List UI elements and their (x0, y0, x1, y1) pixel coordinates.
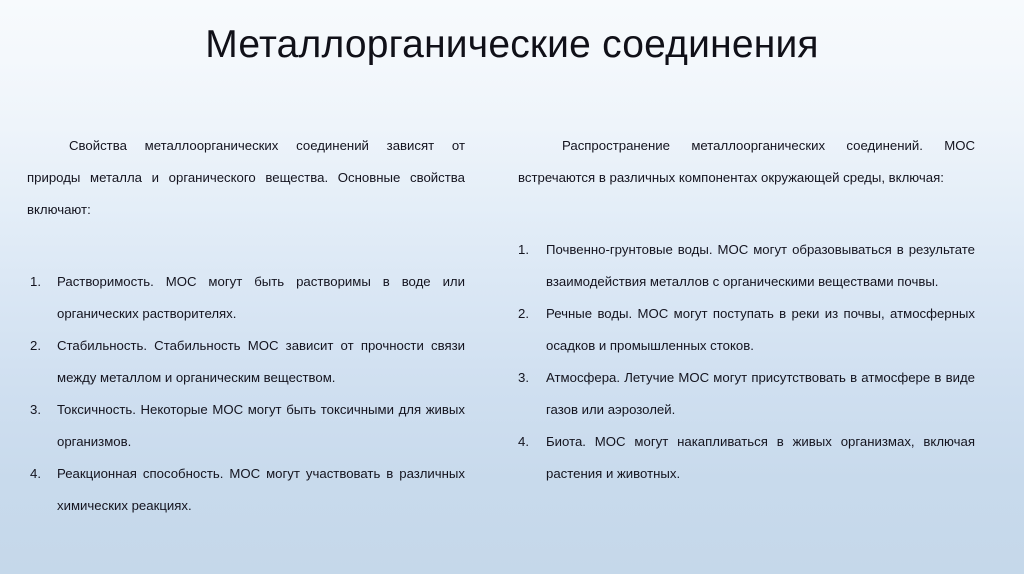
list-item-number: 3. (30, 394, 50, 426)
list-item-text: Почвенно-грунтовые воды. МОС могут образ… (546, 234, 975, 298)
slide: Металлорганические соединения Свойства м… (0, 0, 1024, 574)
right-list-spacer (518, 194, 975, 234)
list-item: 3. Атмосфера. Летучие МОС могут присутст… (518, 362, 975, 426)
left-list-spacer (27, 226, 465, 266)
list-item: 2. Стабильность. Стабильность МОС зависи… (27, 330, 465, 394)
list-item-text: Растворимость. МОС могут быть растворимы… (57, 266, 465, 330)
list-item-number: 1. (30, 266, 50, 298)
list-item: 1. Почвенно-грунтовые воды. МОС могут об… (518, 234, 975, 298)
list-item-text: Атмосфера. Летучие МОС могут присутствов… (546, 362, 975, 426)
list-item-number: 3. (518, 362, 538, 394)
list-item: 2. Речные воды. МОС могут поступать в ре… (518, 298, 975, 362)
list-item-text: Биота. МОС могут накапливаться в живых о… (546, 426, 975, 490)
list-item-number: 4. (30, 458, 50, 490)
list-item-number: 1. (518, 234, 538, 266)
right-occurrence-list: 1. Почвенно-грунтовые воды. МОС могут об… (518, 234, 975, 490)
list-item: 1. Растворимость. МОС могут быть раствор… (27, 266, 465, 330)
left-properties-list: 1. Растворимость. МОС могут быть раствор… (27, 266, 465, 522)
list-item-text: Реакционная способность. МОС могут участ… (57, 458, 465, 522)
content-columns: Свойства металлоорганических соединений … (0, 130, 1024, 560)
list-item: 3. Токсичность. Некоторые МОС могут быть… (27, 394, 465, 458)
list-item: 4. Биота. МОС могут накапливаться в живы… (518, 426, 975, 490)
page-title: Металлорганические соединения (0, 21, 1024, 69)
list-item: 4. Реакционная способность. МОС могут уч… (27, 458, 465, 522)
right-column: Распространение металлоорганических соед… (518, 130, 975, 490)
list-item-text: Токсичность. Некоторые МОС могут быть то… (57, 394, 465, 458)
list-item-number: 4. (518, 426, 538, 458)
right-intro-paragraph: Распространение металлоорганических соед… (518, 130, 975, 194)
list-item-text: Речные воды. МОС могут поступать в реки … (546, 298, 975, 362)
left-column: Свойства металлоорганических соединений … (27, 130, 465, 522)
list-item-number: 2. (518, 298, 538, 330)
list-item-number: 2. (30, 330, 50, 362)
left-intro-paragraph: Свойства металлоорганических соединений … (27, 130, 465, 226)
list-item-text: Стабильность. Стабильность МОС зависит о… (57, 330, 465, 394)
